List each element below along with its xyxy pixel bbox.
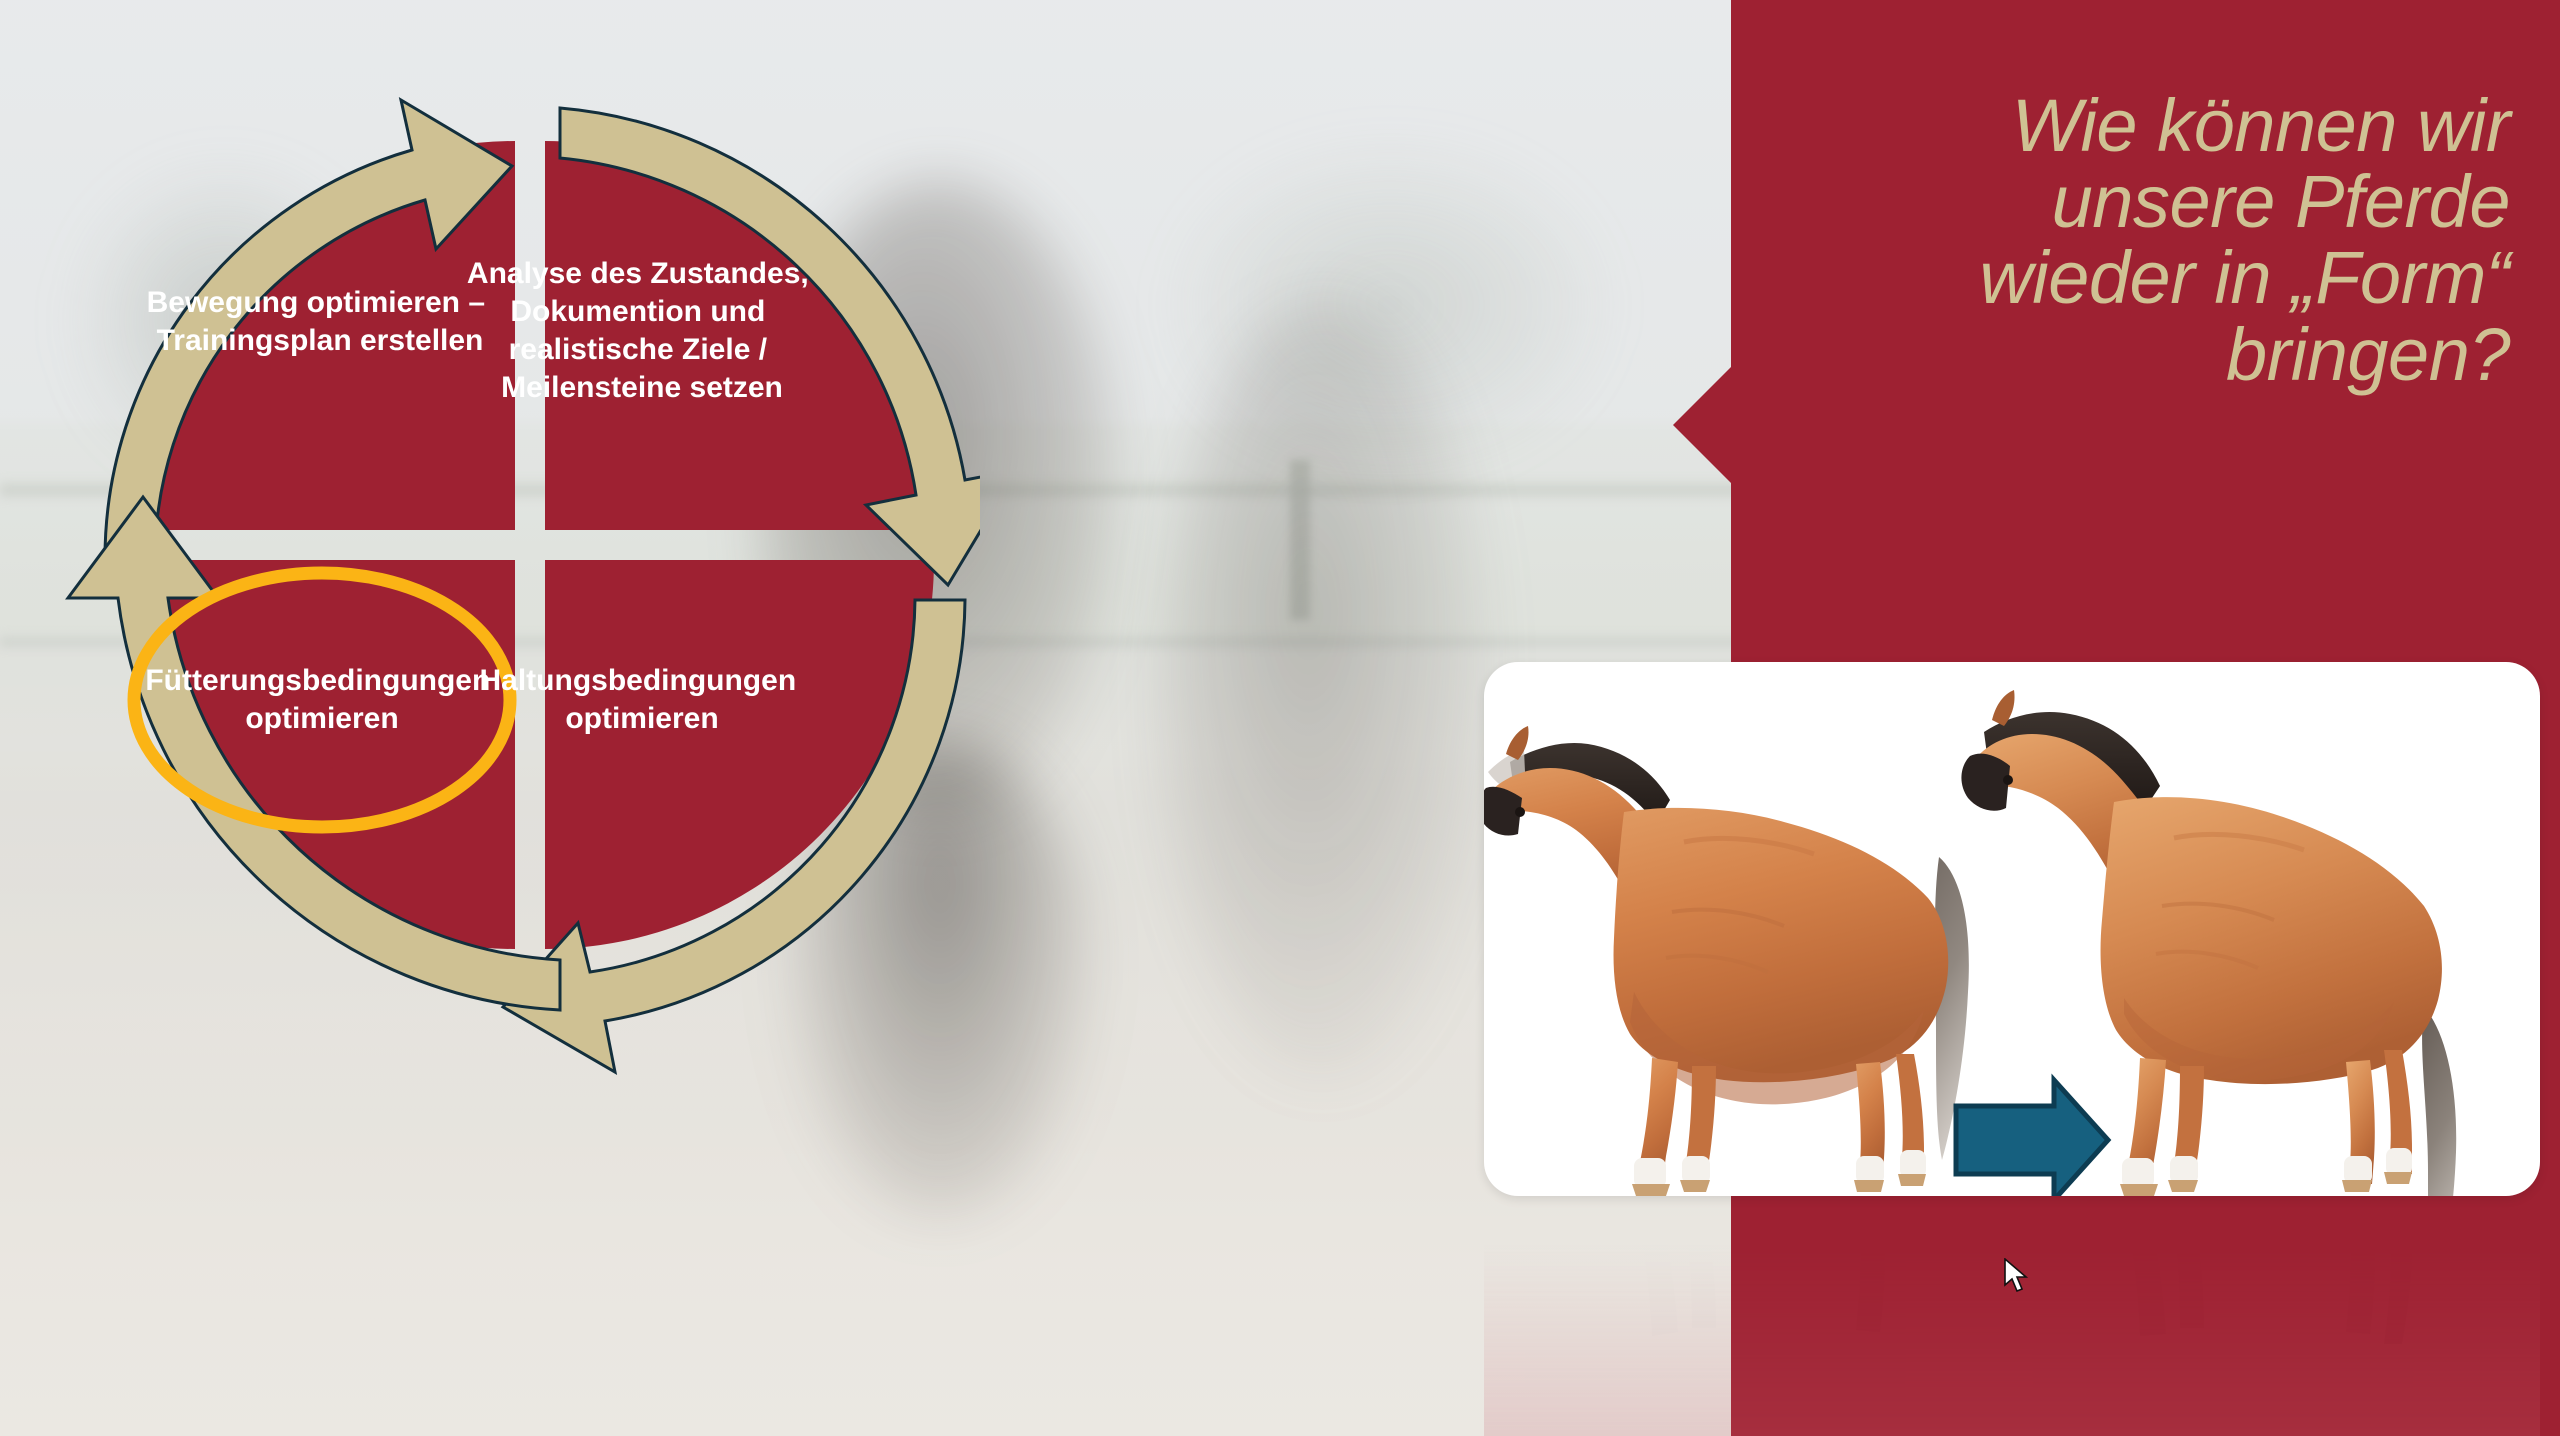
horse-card-reflection-illustration — [1484, 1198, 2540, 1436]
slide-canvas: faded photograph of horses in a sandy pa… — [0, 0, 2560, 1436]
quadrant-bottom-right-shape — [545, 560, 934, 949]
panel-title: Wie können wirunsere Pferdewieder in „Fo… — [1790, 88, 2510, 393]
cycle-diagram: .kh { fill:#CFC193; stroke:#132F3D; stro… — [60, 0, 980, 1436]
mouse-pointer-icon — [2003, 1258, 2029, 1294]
horse-before — [1484, 726, 1969, 1196]
horse-comparison-card[interactable] — [1484, 662, 2540, 1196]
panel-notch — [1673, 367, 1731, 483]
background-horse-silhouette-2 — [1160, 300, 1490, 1080]
right-arrow-icon — [1956, 1080, 2108, 1196]
horse-card-reflection — [1484, 1198, 2540, 1436]
horse-comparison-illustration — [1484, 662, 2540, 1196]
left-pointing-notch-icon — [1673, 367, 1731, 483]
quadrant-bottom-right[interactable] — [545, 560, 934, 949]
